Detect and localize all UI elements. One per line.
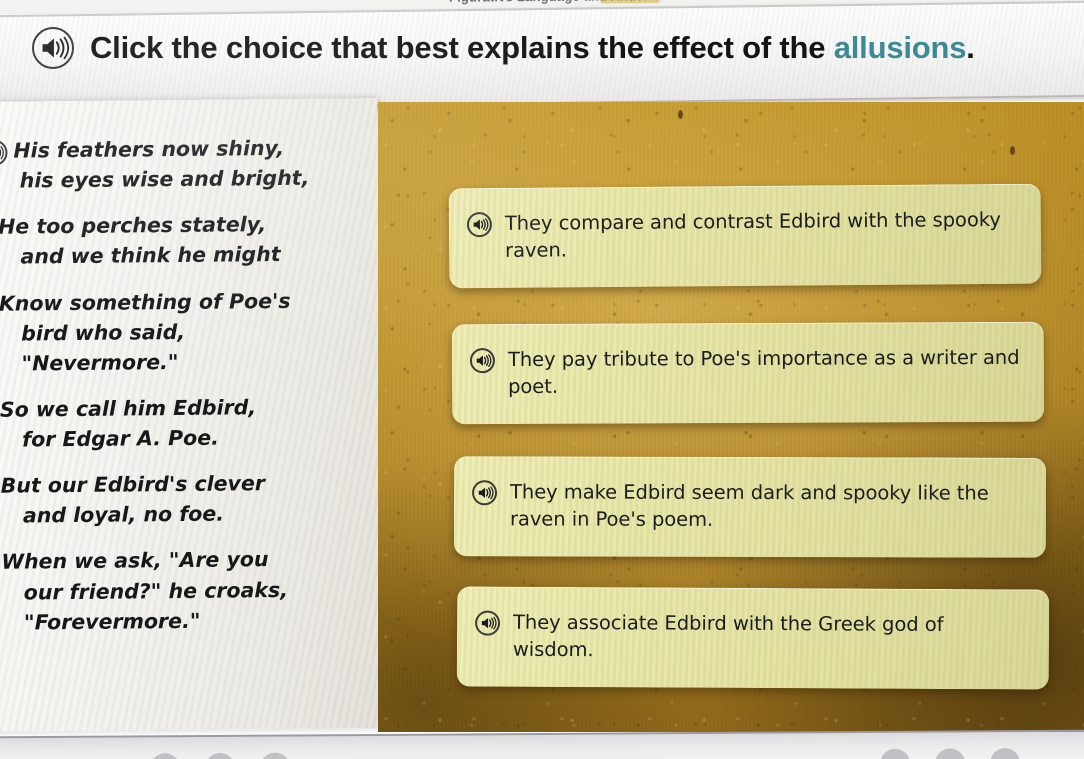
poem-stanza: So we call him Edbird, for Edgar A. Poe. (0, 391, 376, 455)
speaker-icon[interactable] (475, 611, 500, 636)
prompt-suffix: . (966, 30, 974, 65)
answer-choice-2[interactable]: They pay tribute to Poe's importance as … (452, 322, 1044, 425)
answer-choice-text: They associate Edbird with the Greek god… (513, 609, 1029, 666)
nav-dot[interactable] (260, 753, 290, 759)
poem-text: His feathers now shiny, his eyes wise an… (0, 132, 378, 653)
speaker-icon[interactable] (467, 212, 492, 237)
quiz-screen: Figurative Language and Allusions Click … (0, 0, 1084, 759)
poem-line: Know something of Poe's (0, 285, 375, 319)
poem-line: and loyal, no foe. (1, 497, 377, 531)
nav-dot[interactable] (935, 748, 965, 759)
poem-stanza: But our Edbird's clever and loyal, no fo… (1, 467, 378, 531)
answer-board: They compare and contrast Edbird with th… (378, 102, 1084, 732)
window-title: Figurative Language and Allusions (350, 0, 770, 6)
nav-dot[interactable] (880, 749, 910, 759)
nav-dot[interactable] (990, 748, 1020, 759)
poem-line: for Edgar A. Poe. (0, 421, 376, 455)
answer-choice-text: They pay tribute to Poe's importance as … (508, 344, 1024, 401)
question-prompt: Click the choice that best explains the … (90, 30, 975, 66)
answer-choice-1[interactable]: They compare and contrast Edbird with th… (449, 184, 1042, 289)
answer-choice-text: They make Edbird seem dark and spooky li… (510, 478, 1026, 534)
poem-line: But our Edbird's clever (1, 467, 377, 501)
poem-stanza: When we ask, "Are you our friend?" he cr… (1, 543, 378, 637)
poem-line: "Nevermore." (0, 345, 376, 379)
board-speck (678, 110, 683, 119)
prompt-prefix: Click the choice that best explains the … (90, 30, 834, 65)
question-header: Click the choice that best explains the … (26, 10, 1084, 86)
poem-stanza: Know something of Poe's bird who said, "… (0, 285, 376, 379)
poem-stanza: He too perches stately, and we think he … (0, 208, 375, 272)
speaker-icon[interactable] (472, 480, 497, 505)
poem-line: bird who said, (0, 315, 375, 349)
speaker-icon[interactable] (470, 348, 495, 373)
answer-choice-3[interactable]: They make Edbird seem dark and spooky li… (454, 456, 1046, 558)
poem-line: our friend?" he croaks, (2, 574, 378, 608)
answer-choice-text: They compare and contrast Edbird with th… (505, 206, 1021, 265)
answer-choice-4[interactable]: They associate Edbird with the Greek god… (457, 586, 1050, 689)
poem-line: "Forevermore." (2, 604, 378, 638)
poem-line: When we ask, "Are you (1, 543, 377, 577)
poem-line: His feathers now shiny, (13, 133, 284, 166)
poem-panel: His feathers now shiny, his eyes wise an… (0, 98, 383, 732)
nav-dot[interactable] (205, 753, 235, 759)
board-speck (1010, 146, 1015, 155)
nav-dot[interactable] (150, 753, 180, 759)
poem-line: his eyes wise and bright, (0, 162, 374, 196)
poem-line: He too perches stately, (0, 208, 374, 242)
poem-stanza: His feathers now shiny, his eyes wise an… (0, 132, 374, 196)
bottom-nav-bar (0, 730, 1084, 759)
speaker-icon[interactable] (0, 140, 8, 166)
prompt-keyword: allusions (834, 30, 967, 65)
speaker-icon[interactable] (32, 27, 74, 69)
poem-line: So we call him Edbird, (0, 391, 376, 425)
poem-line: and we think he might (0, 238, 375, 272)
